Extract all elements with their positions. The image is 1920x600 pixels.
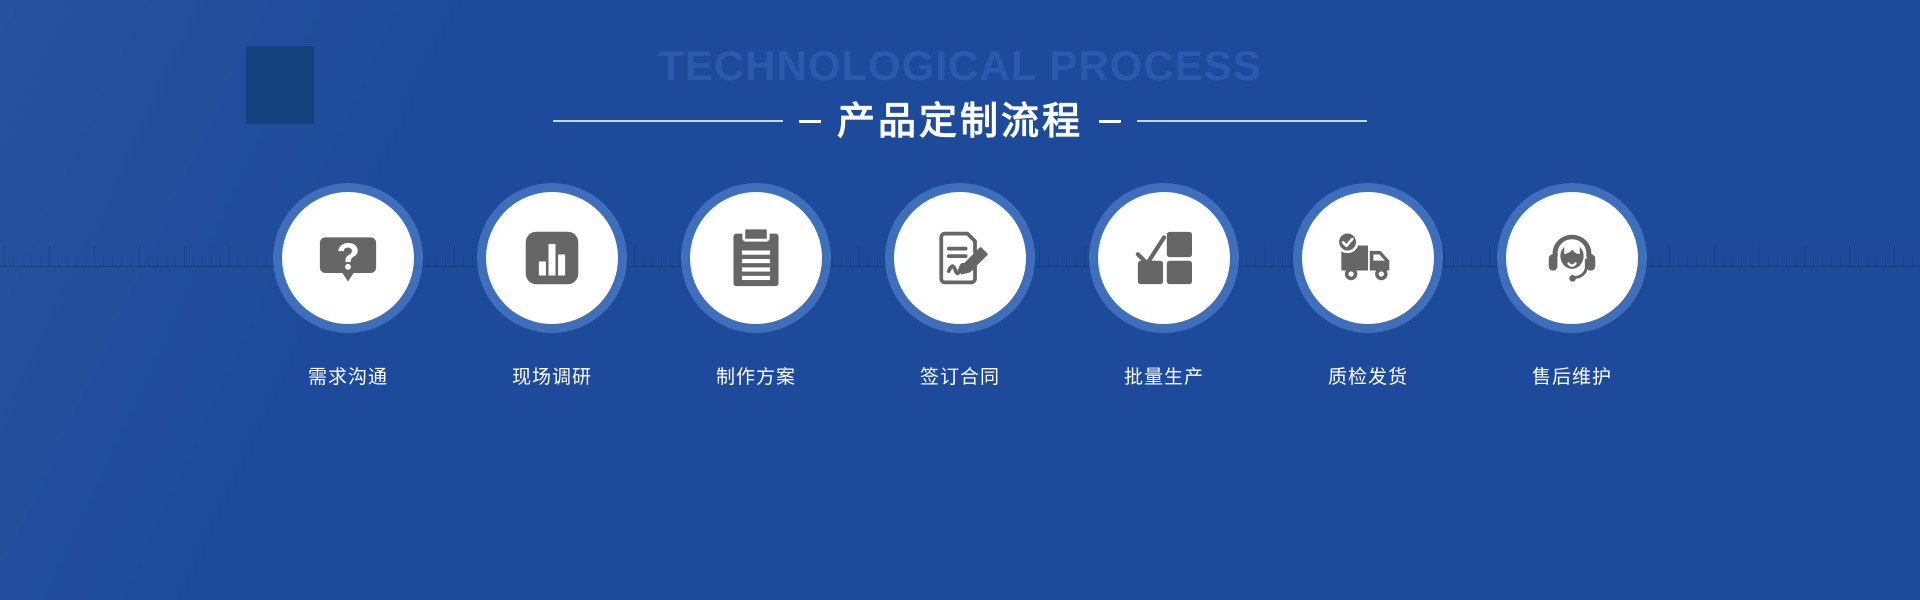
process-step-list: 需求沟通 现场调研 — [0, 183, 1920, 389]
process-step-7[interactable]: 售后维护 — [1495, 183, 1650, 389]
step-circle-4[interactable] — [885, 183, 1035, 333]
step-label-5: 批量生产 — [1124, 362, 1204, 389]
headset-support-icon — [1539, 225, 1605, 291]
step-label-2: 现场调研 — [512, 362, 592, 389]
step-label-4: 签订合同 — [920, 362, 1000, 389]
process-step-3[interactable]: 制作方案 — [679, 183, 834, 389]
delivery-truck-check-icon — [1335, 225, 1401, 291]
step-circle-7[interactable] — [1497, 183, 1647, 333]
process-step-4[interactable]: 签订合同 — [883, 183, 1038, 389]
step-label-6: 质检发货 — [1328, 362, 1408, 389]
step-circle-1[interactable] — [273, 183, 423, 333]
title-chinese: 产品定制流程 — [837, 98, 1083, 144]
step-circle-5[interactable] — [1089, 183, 1239, 333]
clipboard-icon — [723, 225, 789, 291]
process-banner: TECHNOLOGICAL PROCESS 产品定制流程 需求沟通 — [0, 0, 1920, 600]
check-blocks-icon — [1131, 225, 1197, 291]
step-label-7: 售后维护 — [1532, 362, 1612, 389]
step-circle-6[interactable] — [1293, 183, 1443, 333]
process-step-2[interactable]: 现场调研 — [475, 183, 630, 389]
title-english: TECHNOLOGICAL PROCESS — [0, 40, 1920, 92]
process-step-5[interactable]: 批量生产 — [1087, 183, 1242, 389]
step-label-1: 需求沟通 — [308, 362, 388, 389]
process-step-6[interactable]: 质检发货 — [1291, 183, 1446, 389]
process-step-1[interactable]: 需求沟通 — [271, 183, 426, 389]
title-chinese-row: 产品定制流程 — [0, 98, 1920, 144]
title-dash-right — [1099, 120, 1121, 123]
step-label-3: 制作方案 — [716, 362, 796, 389]
step-circle-2[interactable] — [477, 183, 627, 333]
contract-sign-icon — [927, 225, 993, 291]
step-circle-3[interactable] — [681, 183, 831, 333]
title-rule-left — [553, 120, 783, 122]
title-rule-right — [1137, 120, 1367, 122]
title-block: TECHNOLOGICAL PROCESS 产品定制流程 — [0, 40, 1920, 144]
question-bubble-icon — [315, 225, 381, 291]
title-dash-left — [799, 120, 821, 123]
bar-chart-icon — [519, 225, 585, 291]
